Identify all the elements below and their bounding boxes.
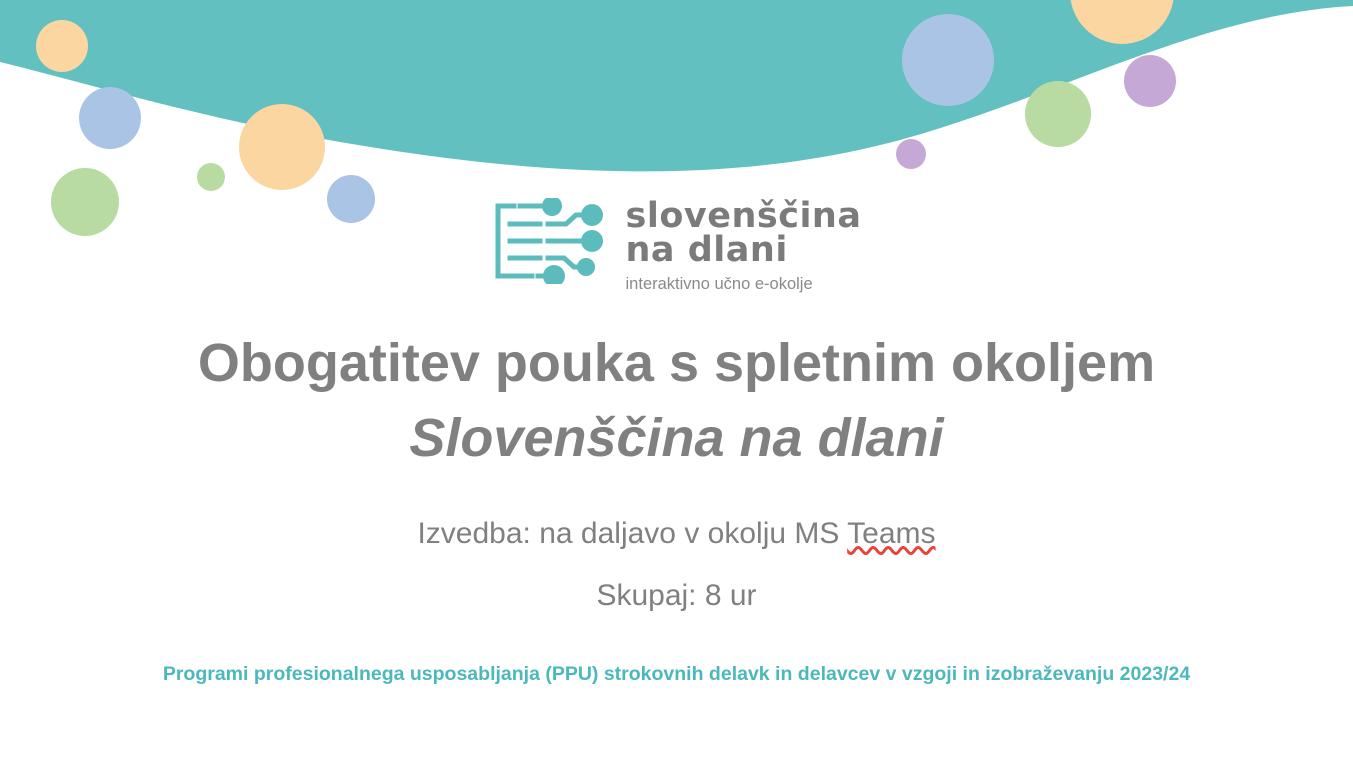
teal-curved-band — [0, 0, 1353, 171]
programme-footer-text: Programi profesionalnega usposabljanja (… — [0, 663, 1353, 686]
logo-wordmark-line2: na dlani — [626, 234, 862, 268]
spellcheck-flagged-word: Teams — [847, 517, 935, 550]
slide-title-group: Obogatitev pouka s spletnim okoljem Slov… — [0, 326, 1353, 475]
logo-tagline: interaktivno učno e-okolje — [626, 268, 862, 295]
bubble-green-small — [197, 163, 225, 191]
delivery-mode-text: Izvedba: na daljavo v okolju MS — [417, 517, 847, 550]
slide-title: Obogatitev pouka s spletnim okoljem — [0, 326, 1353, 401]
bubble-purple-small — [896, 139, 926, 169]
bubble-blue-upper-left — [79, 87, 141, 149]
slide-footer: Programi profesionalnega usposabljanja (… — [0, 663, 1353, 686]
bubble-orange-center — [239, 104, 325, 190]
logo-wordmark-line1: slovenščina — [626, 200, 862, 234]
circuit-logo-icon — [492, 198, 610, 284]
bubble-blue-large — [902, 14, 994, 106]
brand-logo: slovenščina na dlani interaktivno učno e… — [0, 198, 1353, 298]
slide-title-emphasis: Slovenščina na dlani — [0, 401, 1353, 476]
slide-body-group: Izvedba: na daljavo v okolju MS Teams Sk… — [0, 503, 1353, 626]
bubble-green-right — [1025, 81, 1091, 147]
bubble-orange-top-right — [1070, 0, 1174, 44]
bubble-purple-right — [1124, 55, 1176, 107]
bubble-orange-top-left — [36, 20, 88, 72]
delivery-mode-line: Izvedba: na daljavo v okolju MS Teams — [0, 503, 1353, 565]
total-hours-line: Skupaj: 8 ur — [0, 565, 1353, 627]
title-slide: slovenščina na dlani interaktivno učno e… — [0, 0, 1353, 780]
